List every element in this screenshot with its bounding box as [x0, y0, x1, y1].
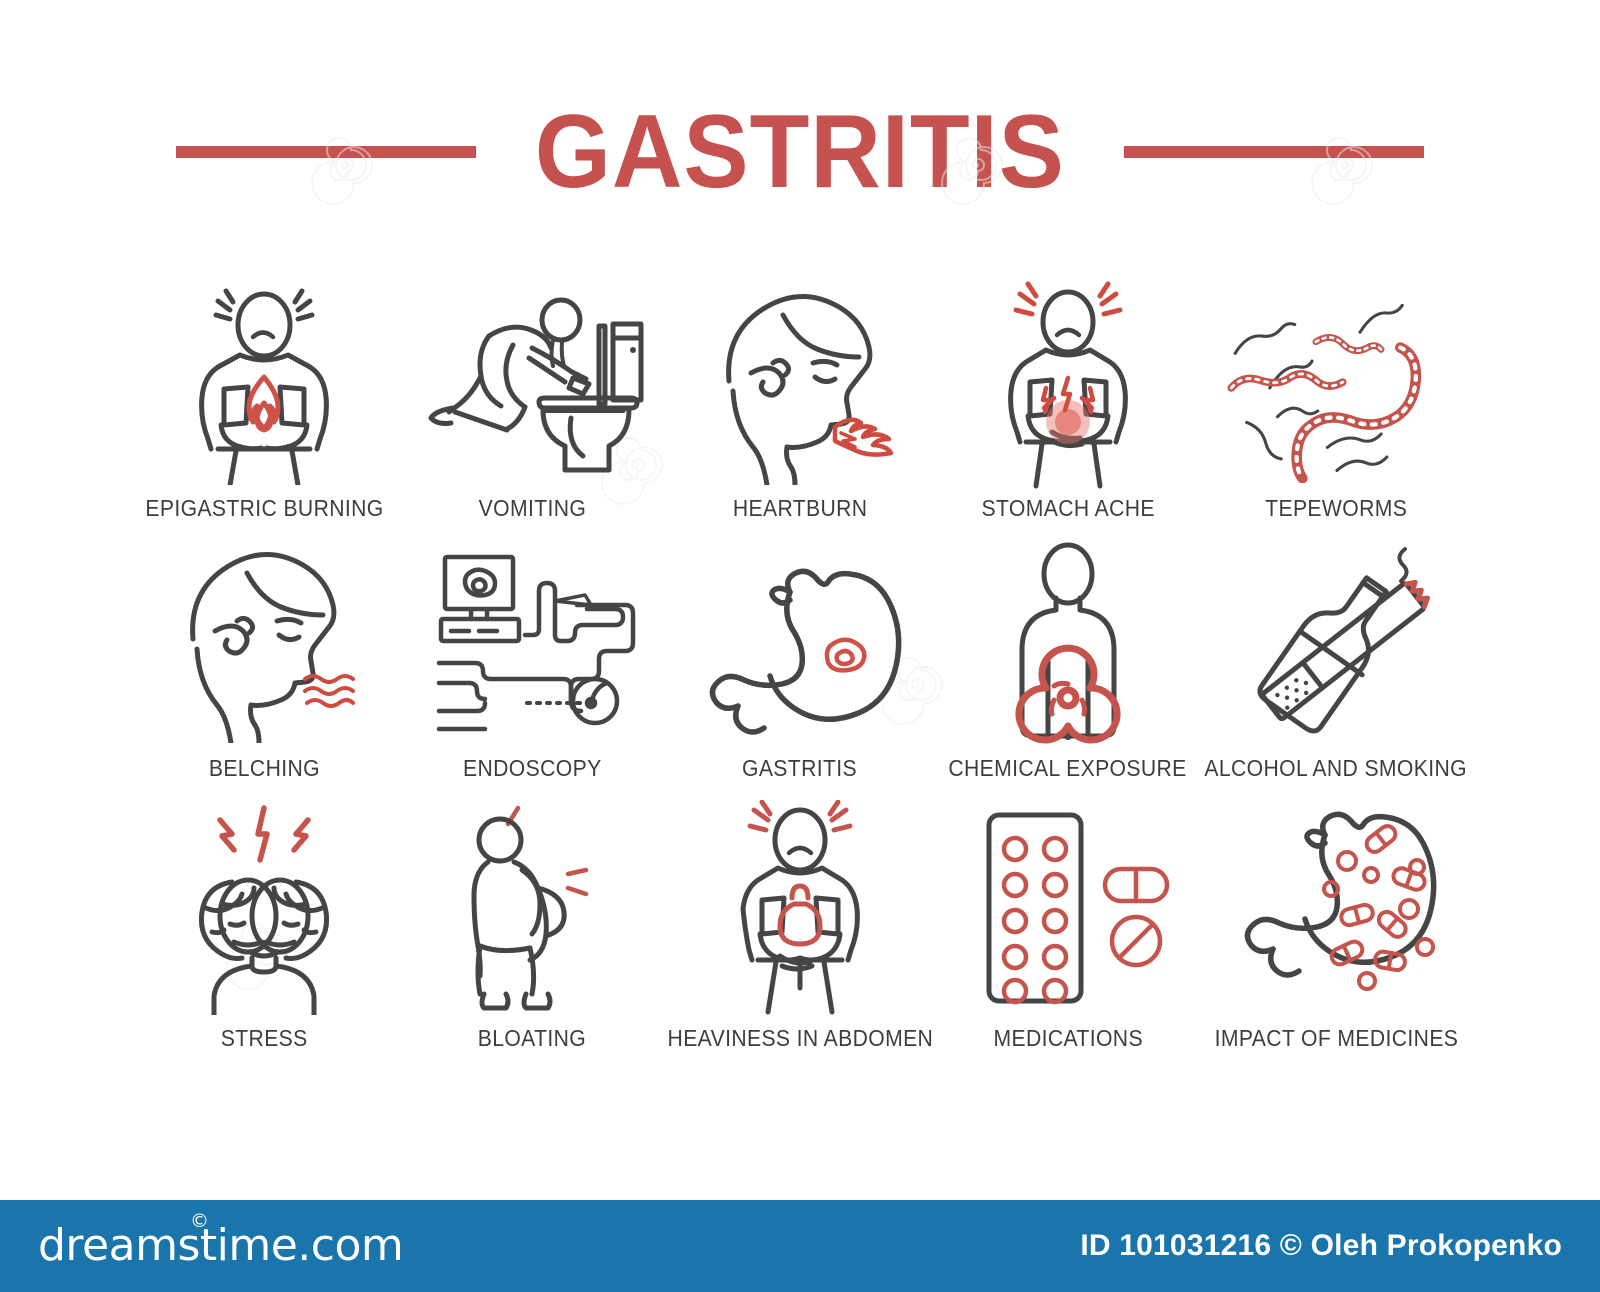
grid-item-label: MEDICATIONS — [993, 1025, 1142, 1052]
grid-item-medications[interactable]: MEDICATIONS — [934, 800, 1202, 1055]
person-toilet-vomit-icon — [412, 285, 652, 485]
grid-item-label: BLOATING — [478, 1025, 586, 1052]
grid-item-alcohol-and-smoking[interactable]: ALCOHOL AND SMOKING — [1202, 540, 1470, 800]
grid-item-heaviness-in-abdomen[interactable]: HEAVINESS IN ABDOMEN — [666, 800, 934, 1055]
symptom-grid: EPIGASTRIC BURNING — [130, 285, 1470, 1055]
grid-item-label: VOMITING — [478, 495, 586, 522]
grid-item-label: STOMACH ACHE — [981, 495, 1154, 522]
grid-item-label: STRESS — [221, 1025, 308, 1052]
image-credit: ID 101031216 © Oleh Prokopenko — [1080, 1229, 1562, 1263]
watermark-footer-bar: dreamstime.com © ID 101031216 © Oleh Pro… — [0, 1200, 1600, 1292]
person-abdominal-pain-icon — [948, 285, 1188, 485]
stomach-with-pills-icon — [1216, 800, 1456, 1015]
bottle-cigarette-icon — [1216, 540, 1456, 745]
page-header: GASTRITIS — [0, 98, 1600, 206]
grid-item-label: TEPEWORMS — [1265, 495, 1407, 522]
person-weight-abdomen-icon — [680, 800, 920, 1015]
multiple-faces-lightning-icon — [144, 800, 384, 1015]
title-rule-left — [176, 146, 476, 158]
grid-item-label: GASTRITIS — [742, 755, 857, 782]
grid-item-label: EPIGASTRIC BURNING — [145, 495, 383, 522]
grid-item-stress[interactable]: STRESS — [130, 800, 398, 1055]
body-biohazard-icon — [948, 540, 1188, 745]
grid-item-label: CHEMICAL EXPOSURE — [949, 755, 1187, 782]
grid-item-label: IMPACT OF MEDICINES — [1214, 1025, 1458, 1052]
person-stomach-flame-icon — [144, 285, 384, 485]
dreamstime-logo: dreamstime.com © — [38, 1224, 403, 1268]
grid-item-label: BELCHING — [208, 755, 319, 782]
grid-item-label: HEAVINESS IN ABDOMEN — [667, 1025, 933, 1052]
title-rule-right — [1124, 146, 1424, 158]
page-title: GASTRITIS — [535, 100, 1065, 204]
grid-item-endoscopy[interactable]: ENDOSCOPY — [398, 540, 666, 800]
grid-item-belching[interactable]: BELCHING — [130, 540, 398, 800]
grid-item-epigastric-burning[interactable]: EPIGASTRIC BURNING — [130, 285, 398, 540]
grid-item-label: ALCOHOL AND SMOKING — [1205, 755, 1468, 782]
stomach-ulcer-icon — [680, 540, 920, 745]
registered-mark: © — [190, 1212, 209, 1231]
grid-item-impact-of-medicines[interactable]: IMPACT OF MEDICINES — [1202, 800, 1470, 1055]
grid-item-label: HEARTBURN — [733, 495, 868, 522]
grid-item-heartburn[interactable]: HEARTBURN — [666, 285, 934, 540]
grid-item-label: ENDOSCOPY — [463, 755, 602, 782]
endoscopy-monitor-tube-icon — [412, 540, 652, 745]
grid-item-bloating[interactable]: BLOATING — [398, 800, 666, 1055]
grid-item-stomach-ache[interactable]: STOMACH ACHE — [934, 285, 1202, 540]
head-profile-flame-mouth-icon — [680, 285, 920, 485]
tapeworms-icon — [1216, 285, 1456, 485]
grid-item-chemical-exposure[interactable]: CHEMICAL EXPOSURE — [934, 540, 1202, 800]
person-bloated-belly-icon — [412, 800, 652, 1015]
grid-item-vomiting[interactable]: VOMITING — [398, 285, 666, 540]
head-profile-burp-waves-icon — [144, 540, 384, 745]
dreamstime-logo-text: dreamstime.com — [38, 1220, 403, 1271]
pill-blister-pack-icon — [948, 800, 1188, 1015]
grid-item-gastritis[interactable]: GASTRITIS — [666, 540, 934, 800]
grid-item-tepeworms[interactable]: TEPEWORMS — [1202, 285, 1470, 540]
